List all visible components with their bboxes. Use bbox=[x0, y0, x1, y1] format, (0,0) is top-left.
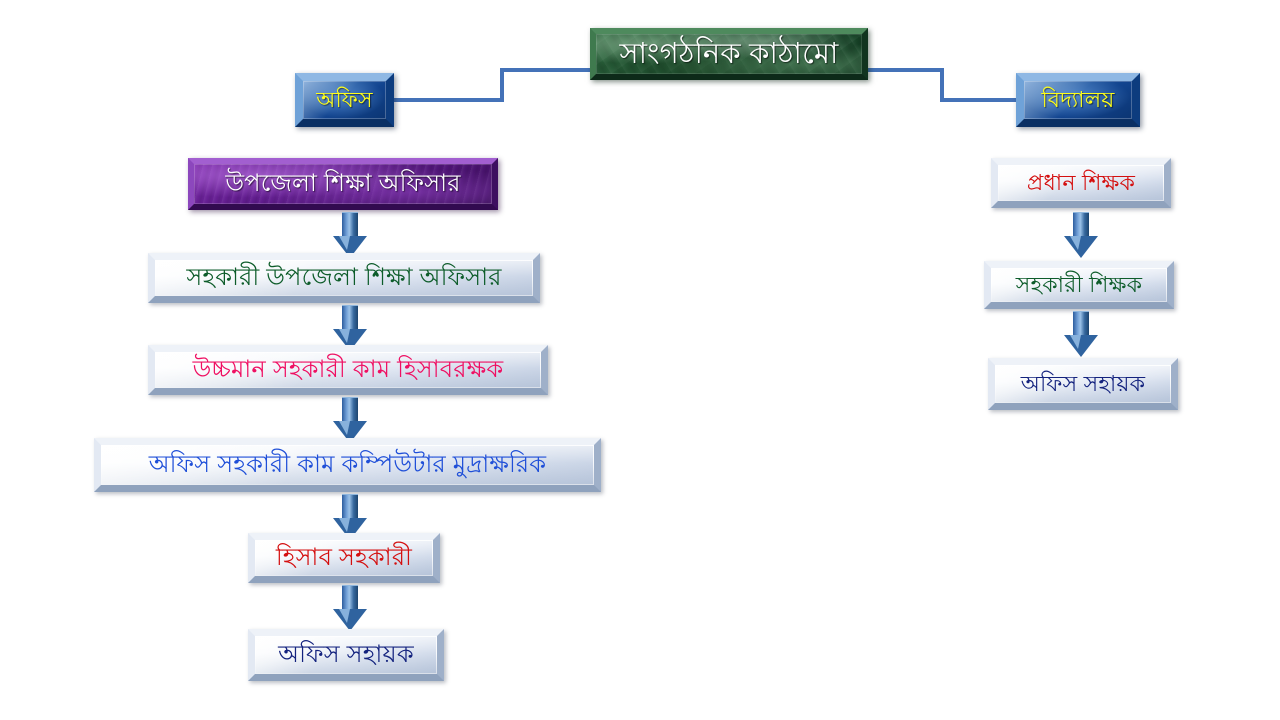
branch-root-office[interactable]: অফিস bbox=[295, 73, 394, 127]
connector-left-upper bbox=[500, 68, 592, 72]
office-arrow-5-6 bbox=[333, 585, 367, 631]
office-node-2-label: সহকারী উপজেলা শিক্ষা অফিসার bbox=[155, 266, 533, 290]
connector-right-lower bbox=[940, 98, 1018, 102]
chart-title-text: সাংগঠনিক কাঠামো bbox=[596, 40, 862, 69]
organizational-chart-slide: সাংগঠনিক কাঠামো অফিস বিদ্যালয় উপজেলা শি… bbox=[0, 0, 1280, 720]
school-node-3[interactable]: অফিস সহায়ক bbox=[988, 358, 1178, 410]
school-node-1[interactable]: প্রধান শিক্ষক bbox=[991, 158, 1171, 208]
office-node-4-label: অফিস সহকারী কাম কম্পিউটার মুদ্রাক্ষরিক bbox=[101, 453, 594, 477]
office-node-2[interactable]: সহকারী উপজেলা শিক্ষা অফিসার bbox=[148, 253, 540, 303]
office-arrow-3-4 bbox=[333, 397, 367, 443]
branch-root-school-label: বিদ্যালয় bbox=[1024, 89, 1132, 111]
office-node-1[interactable]: উপজেলা শিক্ষা অফিসার bbox=[188, 158, 498, 210]
office-node-6-label: অফিস সহায়ক bbox=[255, 643, 437, 667]
school-node-1-label: প্রধান শিক্ষক bbox=[998, 172, 1164, 194]
office-node-6[interactable]: অফিস সহায়ক bbox=[248, 629, 444, 681]
school-node-2-label: সহকারী শিক্ষক bbox=[991, 274, 1167, 296]
connector-right-vertical bbox=[940, 68, 944, 102]
office-node-3-label: উচ্চমান সহকারী কাম হিসাবরক্ষক bbox=[155, 358, 541, 382]
branch-root-school[interactable]: বিদ্যালয় bbox=[1016, 73, 1140, 127]
chart-title-box: সাংগঠনিক কাঠামো bbox=[590, 28, 868, 80]
connector-left-lower bbox=[386, 98, 504, 102]
school-node-3-label: অফিস সহায়ক bbox=[995, 373, 1171, 395]
connector-left-vertical bbox=[500, 68, 504, 102]
school-arrow-1-2 bbox=[1064, 212, 1098, 258]
branch-root-office-label: অফিস bbox=[303, 89, 386, 111]
office-node-5[interactable]: হিসাব সহকারী bbox=[248, 533, 440, 583]
office-arrow-1-2 bbox=[333, 212, 367, 258]
school-arrow-2-3 bbox=[1064, 311, 1098, 357]
office-node-5-label: হিসাব সহকারী bbox=[255, 546, 433, 570]
school-node-2[interactable]: সহকারী শিক্ষক bbox=[984, 261, 1174, 309]
connector-right-upper bbox=[866, 68, 944, 72]
office-node-3[interactable]: উচ্চমান সহকারী কাম হিসাবরক্ষক bbox=[148, 345, 548, 395]
office-node-1-label: উপজেলা শিক্ষা অফিসার bbox=[194, 172, 492, 196]
office-node-4[interactable]: অফিস সহকারী কাম কম্পিউটার মুদ্রাক্ষরিক bbox=[94, 438, 601, 492]
